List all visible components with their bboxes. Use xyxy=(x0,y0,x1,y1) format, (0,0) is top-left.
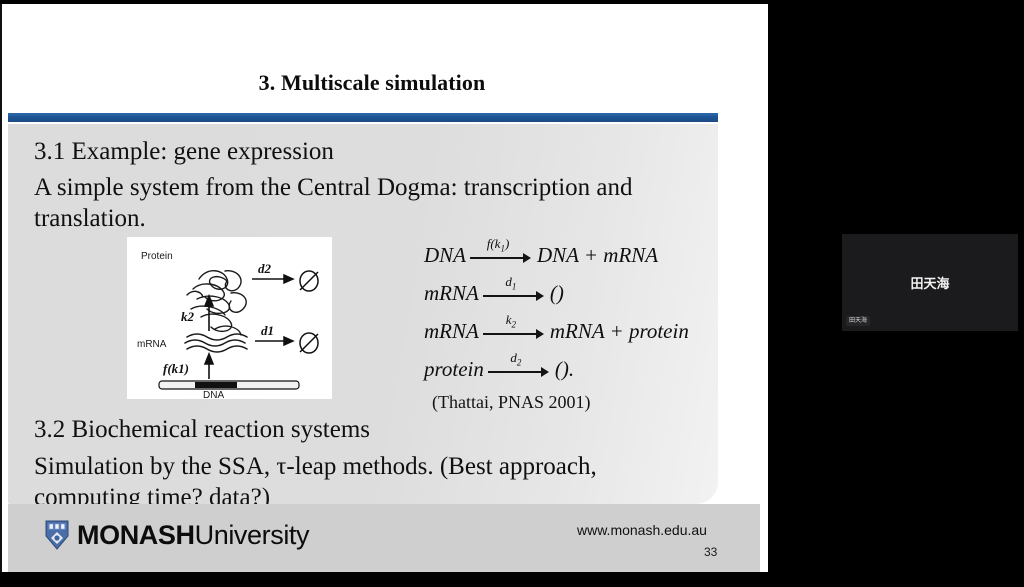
reaction-equation-row: DNA f(k1) DNA + mRNA xyxy=(424,236,724,274)
reaction-equations: DNA f(k1) DNA + mRNA mRNA d1 () mRNA xyxy=(424,236,724,388)
arrow-head xyxy=(536,291,544,301)
rate-subscript: 1 xyxy=(512,282,517,292)
participant-video-tile[interactable]: 田天海 田天海 xyxy=(842,234,1018,331)
logo-light-text: University xyxy=(195,520,310,550)
reaction-arrow: k2 xyxy=(483,321,545,341)
reaction-equation-row: mRNA k2 mRNA + protein xyxy=(424,312,724,350)
equation-product: mRNA + protein xyxy=(550,319,689,344)
equation-reactant: DNA xyxy=(424,243,466,268)
equation-product: (). xyxy=(555,357,574,382)
svg-text:mRNA: mRNA xyxy=(137,339,167,350)
central-dogma-paragraph: A simple system from the Central Dogma: … xyxy=(34,172,674,234)
svg-text:Protein: Protein xyxy=(141,251,173,262)
equation-reactant: mRNA xyxy=(424,319,479,344)
section-heading-3-2: 3.2 Biochemical reaction systems xyxy=(34,414,370,445)
shared-slide[interactable]: 3. Multiscale simulation 3.1 Example: ge… xyxy=(0,4,768,572)
rate-constant: f(k xyxy=(487,236,501,251)
title-divider-rule xyxy=(8,113,718,122)
monash-crest-icon xyxy=(44,520,70,550)
section-heading-3-1: 3.1 Example: gene expression xyxy=(34,136,334,167)
svg-text:k2: k2 xyxy=(181,309,195,324)
monash-wordmark: MONASHUniversity xyxy=(77,521,309,549)
website-url: www.monash.edu.au xyxy=(577,522,707,538)
equation-reactant: mRNA xyxy=(424,281,479,306)
arrow-shaft xyxy=(483,333,539,335)
svg-text:d2: d2 xyxy=(258,261,272,276)
source-citation: (Thattai, PNAS 2001) xyxy=(432,392,590,413)
reaction-arrow: d2 xyxy=(488,359,550,379)
monash-logo: MONASHUniversity xyxy=(44,520,309,550)
arrow-head xyxy=(541,367,549,377)
rate-subscript: 2 xyxy=(517,358,522,368)
page-title: 3. Multiscale simulation xyxy=(2,70,742,96)
reaction-arrow: d1 xyxy=(483,283,545,303)
svg-text:f(k1): f(k1) xyxy=(163,361,189,376)
svg-text:DNA: DNA xyxy=(203,390,224,399)
gene-expression-diagram: Protein mRNA k2 xyxy=(127,237,332,399)
svg-text:d1: d1 xyxy=(261,323,274,338)
equation-product: DNA + mRNA xyxy=(537,243,658,268)
rate-subscript: 2 xyxy=(511,320,516,330)
meeting-screen-share-view: 3. Multiscale simulation 3.1 Example: ge… xyxy=(0,0,1024,587)
arrow-shaft xyxy=(488,371,544,373)
arrow-shaft xyxy=(483,295,539,297)
reaction-arrow: f(k1) xyxy=(470,245,532,265)
arrow-head xyxy=(536,329,544,339)
rate-tail: ) xyxy=(505,236,509,251)
slide-page-number: 33 xyxy=(704,545,717,559)
participant-name-chip: 田天海 xyxy=(846,316,870,326)
reaction-equation-row: protein d2 (). xyxy=(424,350,724,388)
logo-bold-text: MONASH xyxy=(77,520,195,550)
equation-reactant: protein xyxy=(424,357,484,382)
arrow-shaft xyxy=(470,257,526,259)
equation-product: () xyxy=(550,281,564,306)
reaction-equation-row: mRNA d1 () xyxy=(424,274,724,312)
arrow-head xyxy=(523,253,531,263)
gene-expression-svg: Protein mRNA k2 xyxy=(127,237,332,399)
